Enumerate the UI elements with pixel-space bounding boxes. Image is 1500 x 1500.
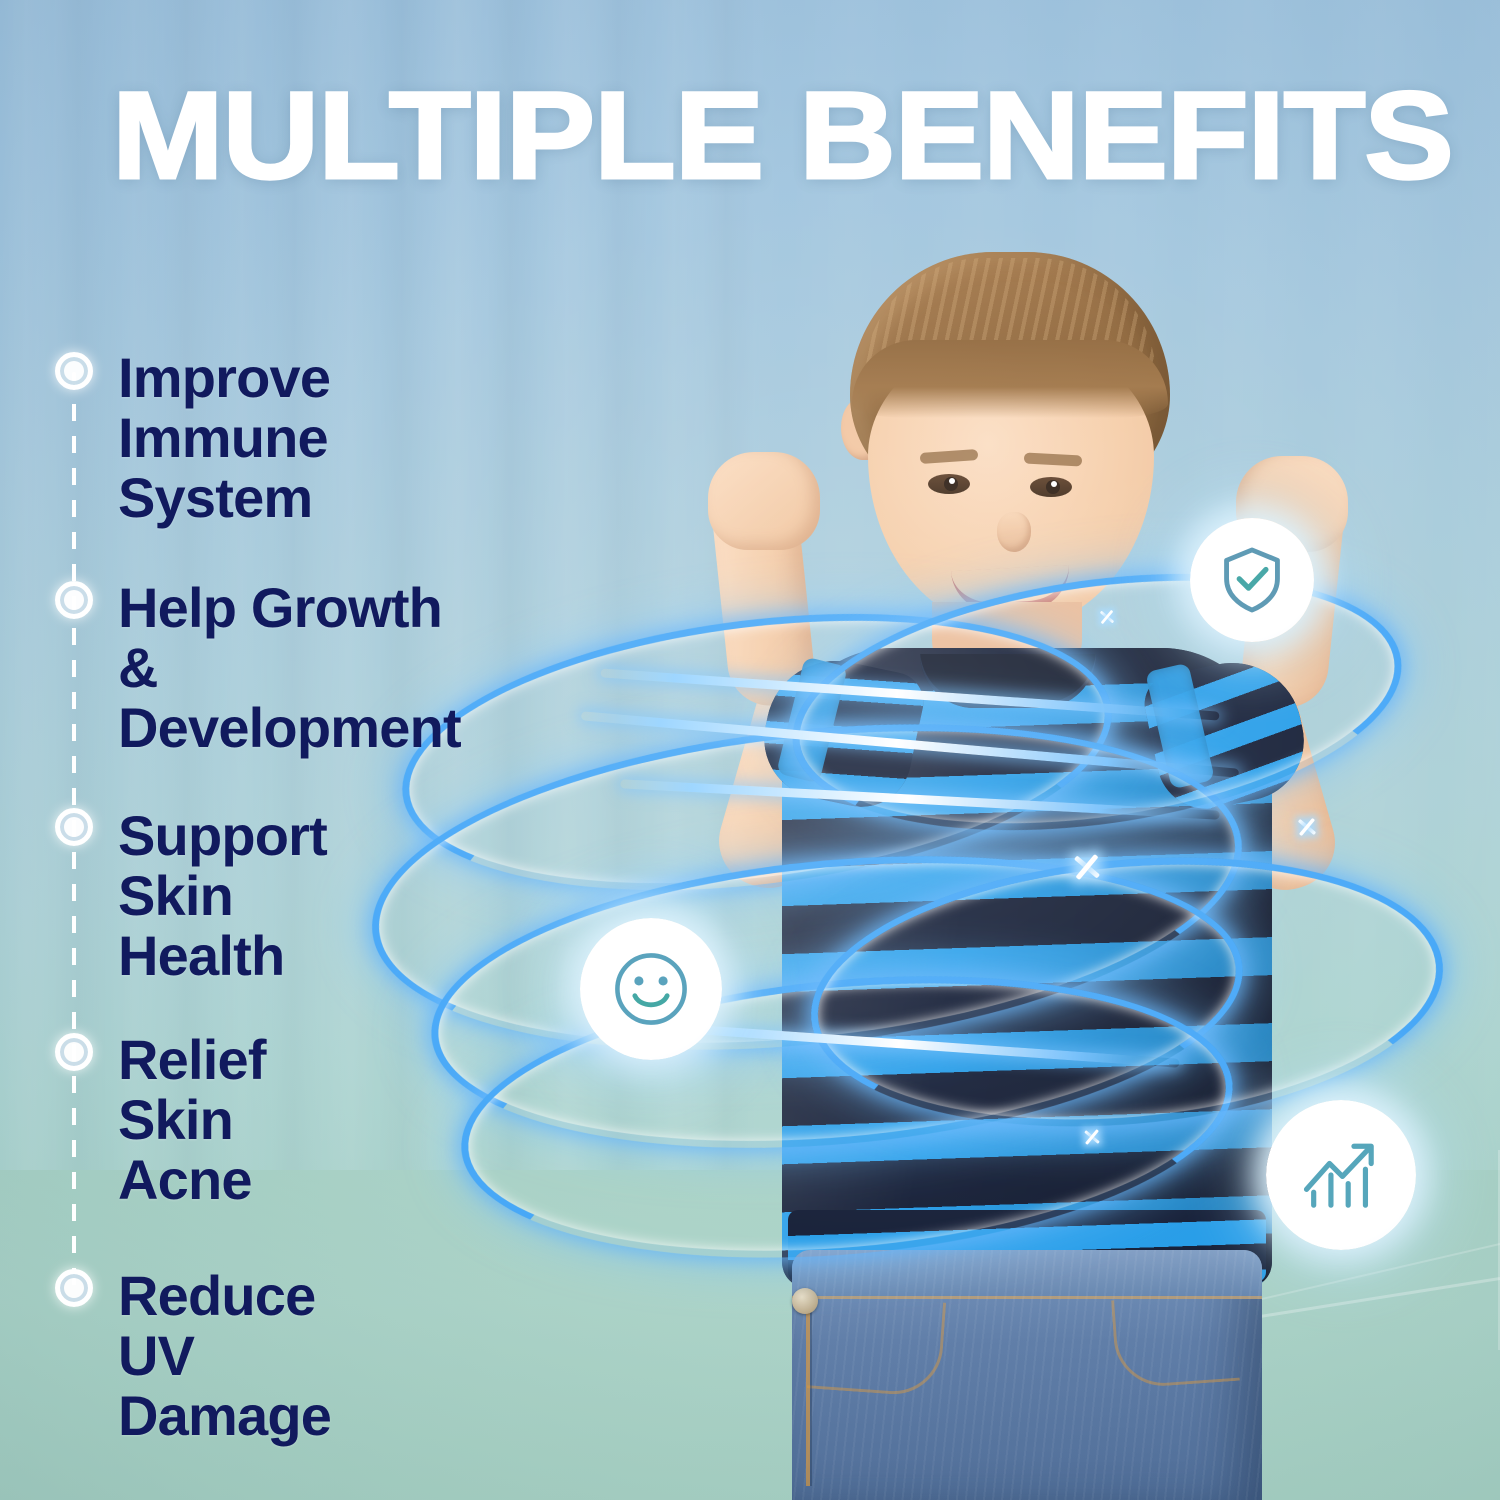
bullet-ring-icon	[55, 808, 93, 846]
benefit-label: Help Growth & Development	[118, 578, 461, 758]
benefit-label: Support Skin Health	[118, 806, 327, 986]
bullet-ring-icon	[55, 581, 93, 619]
growth-chart-badge	[1266, 1100, 1416, 1250]
shield-check-icon	[1215, 543, 1289, 617]
growth-chart-icon	[1295, 1129, 1387, 1221]
benefits-list: Improve Immune System Help Growth & Deve…	[0, 0, 620, 1500]
benefit-label: Reduce UV Damage	[118, 1266, 331, 1446]
benefit-label: Improve Immune System	[118, 348, 330, 528]
benefit-label: Relief Skin Acne	[118, 1030, 266, 1210]
benefits-poster: MULTIPLE BENEFITS Improve Immune System …	[0, 0, 1500, 1500]
bullet-ring-icon	[55, 352, 93, 390]
smiley-face-icon	[608, 946, 694, 1032]
bullet-ring-icon	[55, 1269, 93, 1307]
bullet-ring-icon	[55, 1033, 93, 1071]
smiley-face-badge	[580, 918, 722, 1060]
shield-check-badge	[1190, 518, 1314, 642]
